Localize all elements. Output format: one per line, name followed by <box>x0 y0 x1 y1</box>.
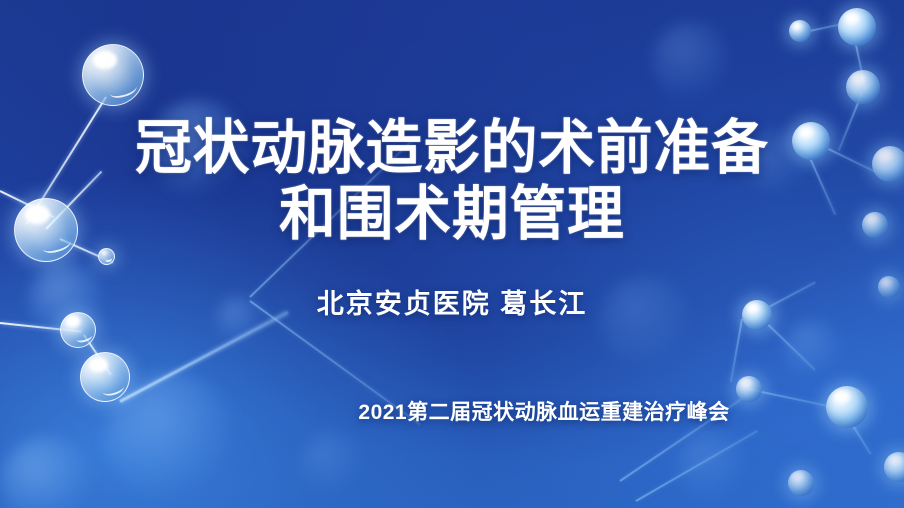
connector-rod <box>800 21 851 34</box>
bubble-cluster-left <box>0 0 904 508</box>
bubble-sphere <box>82 44 144 106</box>
molecular-network-right <box>0 0 904 508</box>
connector-rod <box>855 45 867 90</box>
bubble-sphere <box>80 352 130 402</box>
slide-title: 冠状动脉造影的术前准备 和围术期管理 <box>0 118 904 244</box>
connector-rod <box>755 312 815 370</box>
bokeh-circle <box>0 436 92 508</box>
connector-rod <box>119 311 288 403</box>
connector-rod <box>636 430 758 502</box>
bokeh-circle <box>784 320 842 378</box>
molecule-sphere <box>789 20 811 42</box>
molecule-sphere <box>788 470 814 496</box>
title-slide: 冠状动脉造影的术前准备 和围术期管理 北京安贞医院 葛长江 2021第二届冠状动… <box>0 0 904 508</box>
molecule-sphere <box>838 8 876 46</box>
molecule-sphere <box>884 452 904 482</box>
speaker-line: 北京安贞医院 葛长江 <box>0 282 904 321</box>
connector-rod <box>83 334 111 375</box>
conference-footer: 2021第二届冠状动脉血运重建治疗峰会 <box>0 396 904 426</box>
molecule-sphere <box>846 70 880 104</box>
title-line-1: 冠状动脉造影的术前准备 <box>18 118 886 178</box>
connector-rod <box>0 322 82 333</box>
bubble-sphere <box>98 248 115 265</box>
title-line-2: 和围术期管理 <box>18 184 886 244</box>
bokeh-layer <box>0 0 904 508</box>
bokeh-circle <box>652 22 730 100</box>
bokeh-circle <box>106 372 234 500</box>
bokeh-circle <box>300 432 364 496</box>
bokeh-circle <box>676 430 748 502</box>
connector-rod <box>730 319 743 382</box>
